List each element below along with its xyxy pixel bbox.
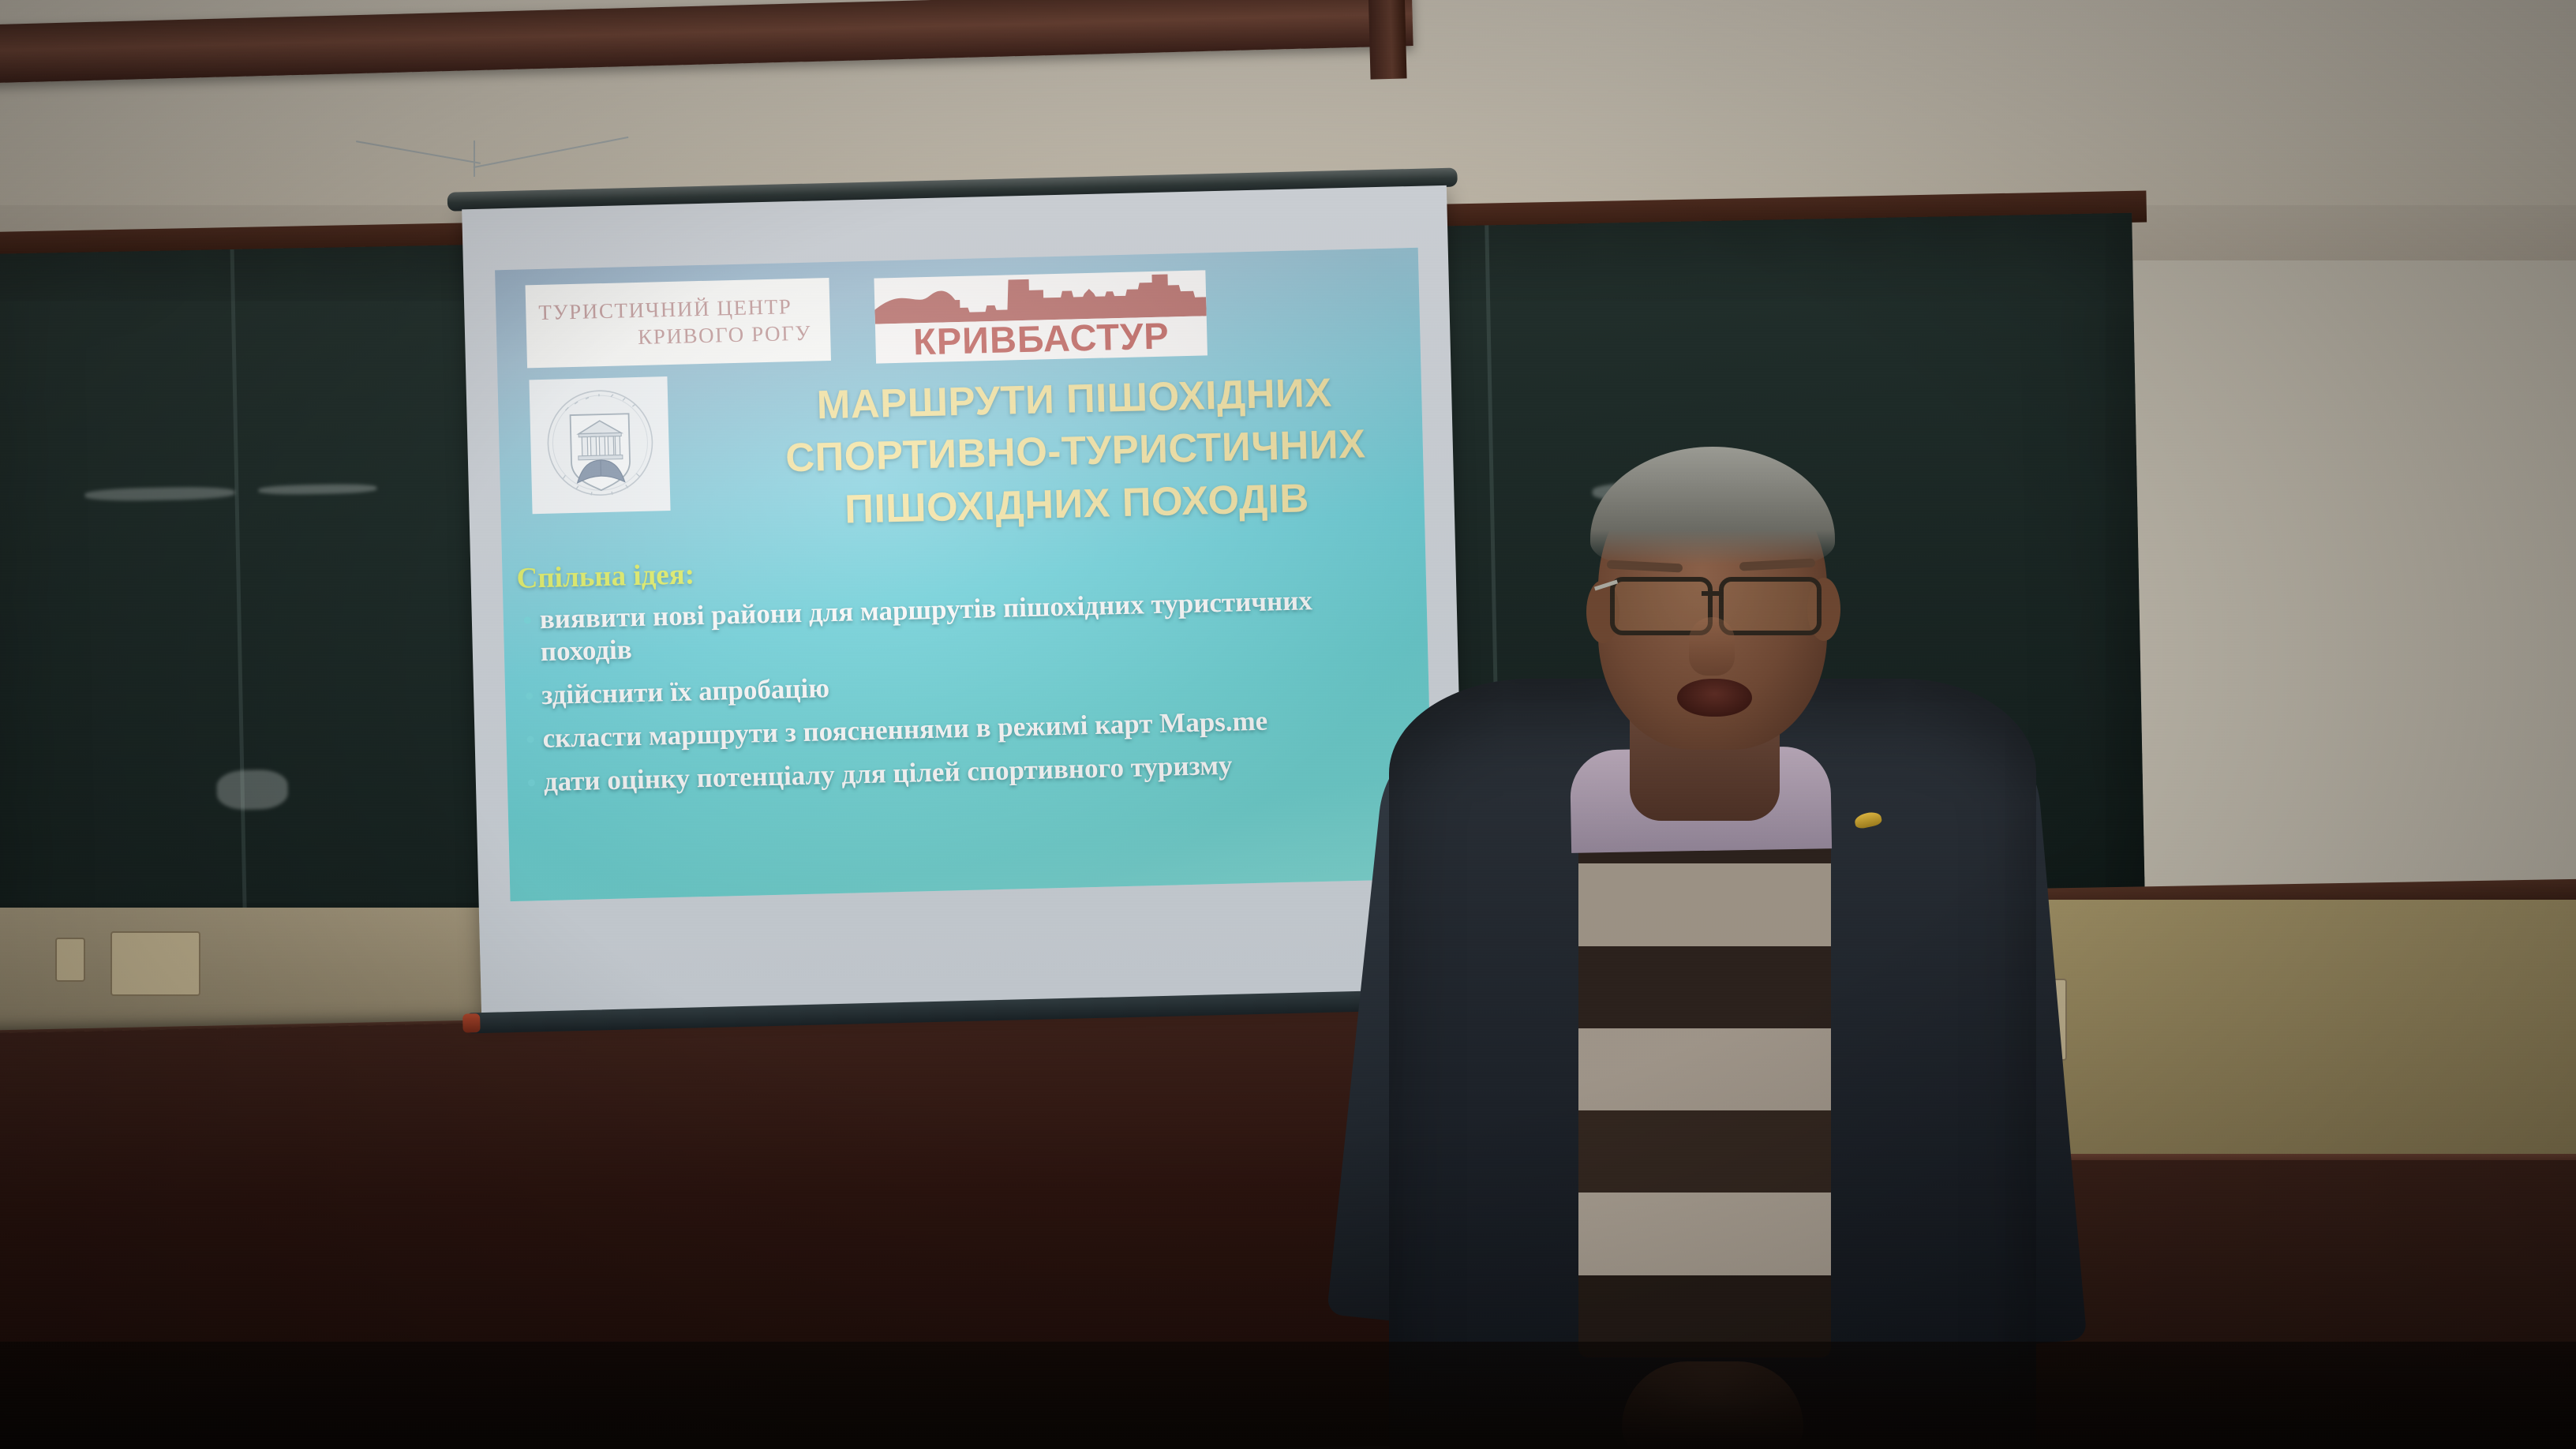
sweater-stripe — [1578, 1193, 1831, 1275]
sweater-stripe — [1578, 1028, 1831, 1110]
screen-canvas: ТУРИСТИЧНИЙ ЦЕНТР КРИВОГО РОГУ КРИВБАСТУ… — [462, 185, 1466, 1014]
lens-right — [1719, 577, 1822, 635]
slide: ТУРИСТИЧНИЙ ЦЕНТР КРИВОГО РОГУ КРИВБАСТУ… — [495, 248, 1433, 901]
slide-bullet-list: виявити нові райони для маршрутів пішохі… — [511, 582, 1411, 810]
university-emblem-logo — [529, 376, 670, 514]
wall-switch[interactable] — [55, 938, 85, 982]
presenter — [1342, 442, 2068, 1449]
list-item: виявити нові райони для маршрутів пішохі… — [511, 582, 1408, 669]
hair — [1590, 447, 1835, 565]
tourist-center-logo: ТУРИСТИЧНИЙ ЦЕНТР КРИВОГО РОГУ — [526, 278, 831, 368]
projection-screen[interactable]: ТУРИСТИЧНИЙ ЦЕНТР КРИВОГО РОГУ КРИВБАСТУ… — [447, 168, 1479, 1069]
section-label: Спільна ідея: — [516, 557, 695, 595]
striped-sweater — [1578, 781, 1831, 1357]
sweater-stripe — [1578, 863, 1831, 945]
wall-outlet[interactable] — [110, 931, 200, 996]
blackboard-seam — [230, 249, 248, 960]
wall-frame-right-molding — [1368, 0, 1406, 80]
foreground-shadow — [0, 1342, 2576, 1449]
chalk-smudge — [216, 769, 288, 811]
chalk-smudge — [84, 486, 234, 502]
mouth — [1677, 679, 1752, 717]
presentation-photo-scene: ТУРИСТИЧНИЙ ЦЕНТР КРИВОГО РОГУ КРИВБАСТУ… — [0, 0, 2576, 1449]
university-crest-icon — [539, 384, 661, 506]
screen-hook — [474, 140, 475, 177]
chalk-smudge — [258, 484, 376, 496]
sweater-stripe — [1578, 946, 1831, 1028]
krivbastur-wordmark: КРИВБАСТУР — [875, 313, 1207, 363]
sweater-stripe — [1578, 1110, 1831, 1193]
nose — [1689, 617, 1735, 676]
krivbastur-logo: КРИВБАСТУР — [874, 270, 1207, 363]
glasses-bridge — [1702, 591, 1722, 596]
list-item: дати оцінку потенціалу для цілей спортив… — [515, 745, 1411, 799]
slide-title: МАРШРУТИ ПІШОХІДНИХ СПОРТИВНО-ТУРИСТИЧНИ… — [735, 365, 1417, 538]
